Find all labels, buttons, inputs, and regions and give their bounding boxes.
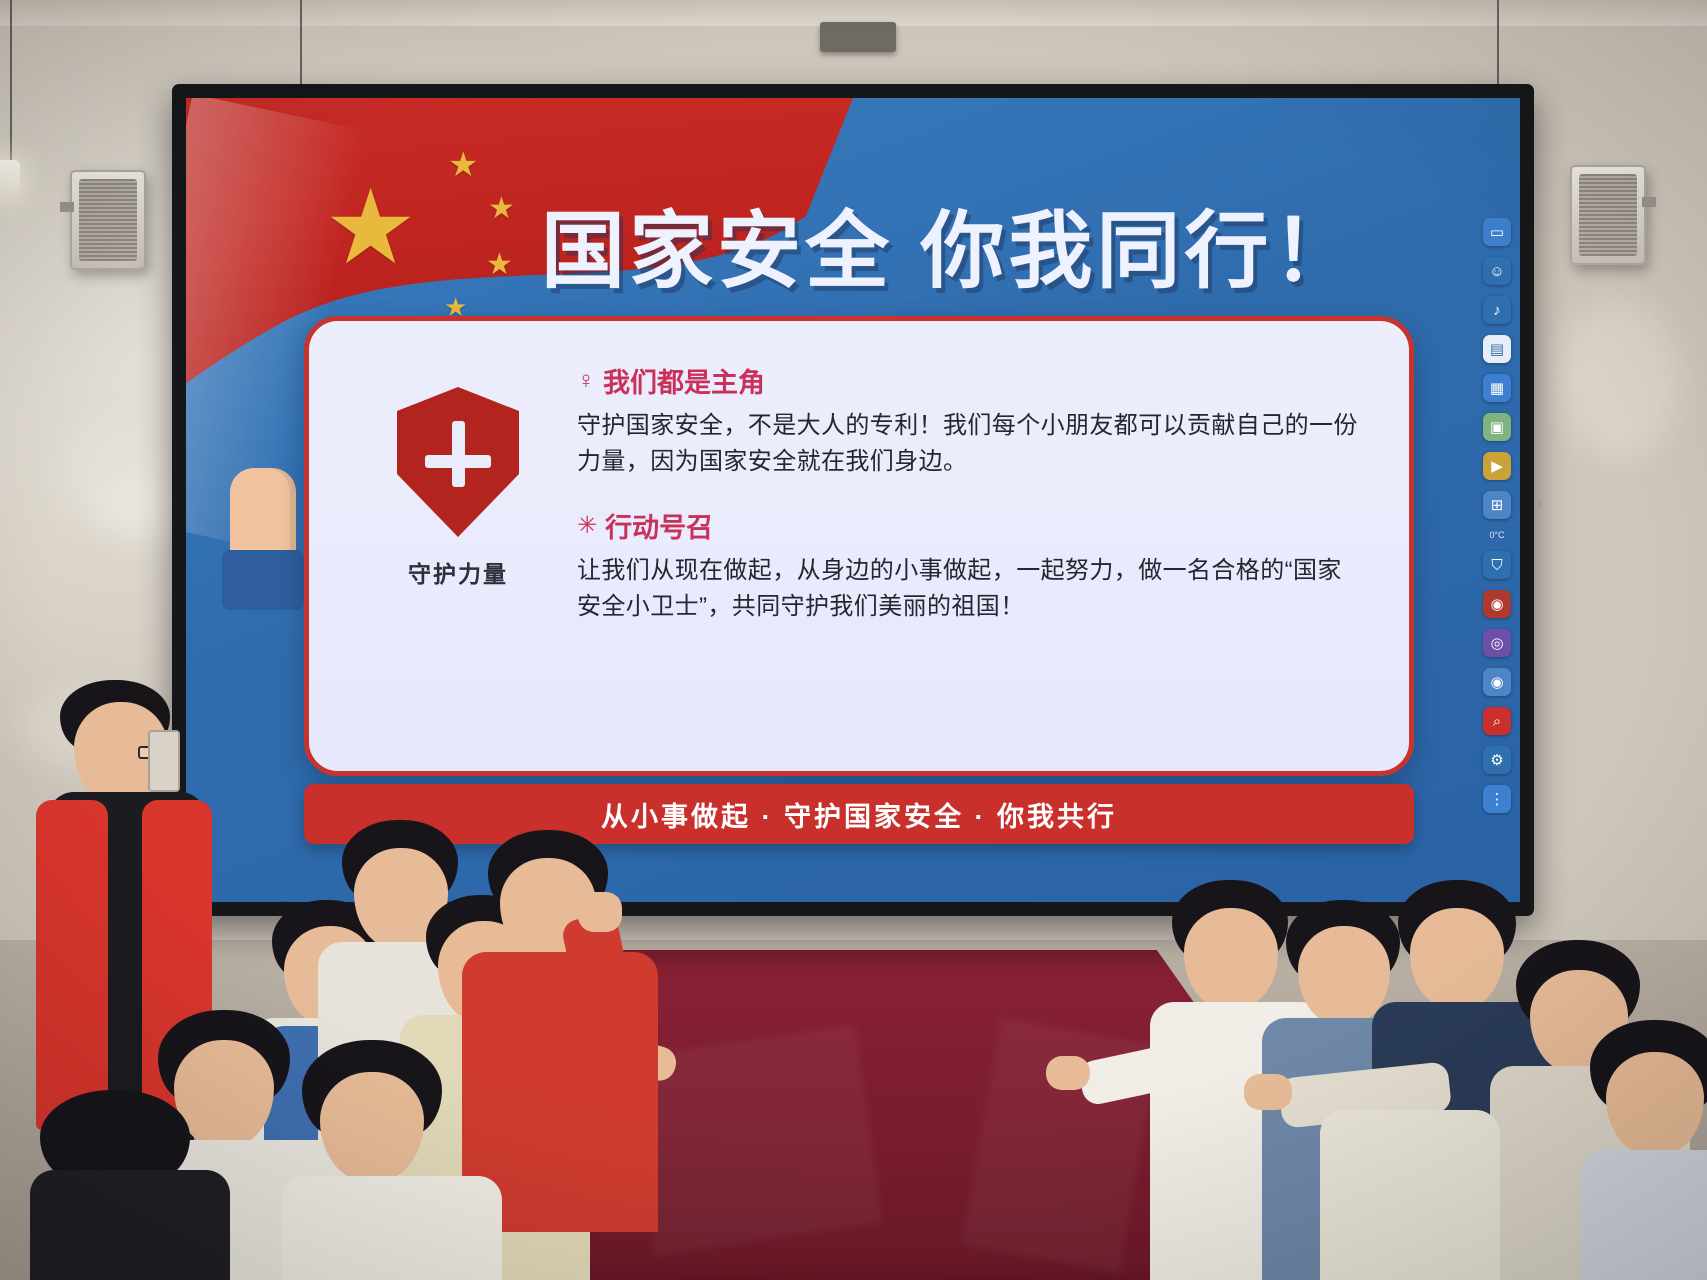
wall-stain [1560, 300, 1680, 460]
speaker-mount [60, 202, 74, 212]
ceiling-junction-box [820, 22, 896, 52]
calculator-icon[interactable]: ▦ [1483, 374, 1511, 402]
flag-star-small: ★ [448, 148, 478, 182]
section-heading-text: 我们都是主角 [603, 361, 765, 400]
far-left-lamp-cord [10, 0, 12, 160]
lightbulb-icon: ♀ [577, 367, 595, 395]
slide-section: ✳ 行动号召 让我们从现在做起，从身边的小事做起，一起努力，做一名合格的“国家安… [577, 506, 1365, 625]
slide-section: ♀ 我们都是主角 守护国家安全，不是大人的专利！我们每个小朋友都可以贡献自己的一… [577, 361, 1365, 480]
wall-control-panel[interactable] [148, 730, 180, 792]
browser-icon[interactable]: ◉ [1483, 590, 1511, 618]
presenter-red-vest [36, 800, 108, 1130]
led-display-frame: ★ ★ ★ ★ ★ [172, 84, 1534, 916]
sparkle-icon: ✳ [577, 511, 597, 540]
flag-star-large: ★ [324, 176, 417, 280]
led-display-screen[interactable]: ★ ★ ★ ★ ★ [186, 98, 1520, 902]
camera-icon[interactable]: ◉ [1483, 668, 1511, 696]
left-wall-speaker [70, 170, 146, 270]
gallery-icon[interactable]: ▣ [1483, 413, 1511, 441]
display-app-dock[interactable]: ▭ ☺ ♪ ▤ ▦ ▣ ▶ ⊞ 0°C ⛉ ◉ ◎ ◉ ⌕ ⚙ ⋮ [1480, 218, 1514, 813]
child [1580, 1020, 1707, 1280]
child [1280, 1050, 1490, 1280]
temperature-label: 0°C [1489, 530, 1504, 540]
child [282, 1040, 502, 1280]
user-icon[interactable]: ☺ [1483, 257, 1511, 285]
music-icon[interactable]: ♪ [1483, 296, 1511, 324]
shield-plus-icon [397, 387, 519, 537]
child [30, 1090, 230, 1280]
flag-star-small: ★ [488, 194, 515, 224]
slide-ribbon-text: 从小事做起 · 守护国家安全 · 你我共行 [601, 795, 1117, 834]
section-heading-row: ♀ 我们都是主角 [577, 361, 1365, 400]
section-body-text: 守护国家安全，不是大人的专利！我们每个小朋友都可以贡献自己的一份力量，因为国家安… [577, 408, 1365, 480]
speaker-grille [79, 179, 137, 261]
slide-headline: 国家安全 你我同行！ [541, 184, 1360, 305]
video-icon[interactable]: ▶ [1483, 452, 1511, 480]
cartoon-fist-sleeve [222, 550, 304, 610]
photo-scene: ★ ★ ★ ★ ★ [0, 0, 1707, 1280]
speaker-mount [1642, 197, 1656, 207]
section-heading-row: ✳ 行动号召 [577, 506, 1365, 545]
far-left-pendant-lamp [0, 160, 20, 198]
settings-icon[interactable]: ⚙ [1483, 746, 1511, 774]
apps-icon[interactable]: ⋮ [1483, 785, 1511, 813]
speaker-grille [1579, 174, 1637, 256]
child-hand [1046, 1056, 1090, 1090]
child-hand [1244, 1074, 1292, 1110]
slide-content-card: 守护力量 ♀ 我们都是主角 守护国家安全，不是大人的专利！我们每个小朋友都可以贡… [304, 316, 1414, 776]
right-wall-speaker [1570, 165, 1646, 265]
window-icon[interactable]: ▭ [1483, 218, 1511, 246]
badge-column: 守护力量 [353, 361, 563, 589]
shield-label: 守护力量 [408, 555, 508, 589]
slide-sections: ♀ 我们都是主角 守护国家安全，不是大人的专利！我们每个小朋友都可以贡献自己的一… [563, 361, 1365, 651]
section-heading-text: 行动号召 [605, 506, 713, 545]
section-body-text: 让我们从现在做起，从身边的小事做起，一起努力，做一名合格的“国家安全小卫士”，共… [577, 553, 1365, 625]
headphone-icon[interactable]: ◎ [1483, 629, 1511, 657]
search-icon[interactable]: ⌕ [1483, 707, 1511, 735]
document-icon[interactable]: ▤ [1483, 335, 1511, 363]
grid-icon[interactable]: ⊞ [1483, 491, 1511, 519]
child-hand [578, 892, 622, 932]
flag-star-small: ★ [486, 250, 513, 280]
shield-icon[interactable]: ⛉ [1483, 551, 1511, 579]
